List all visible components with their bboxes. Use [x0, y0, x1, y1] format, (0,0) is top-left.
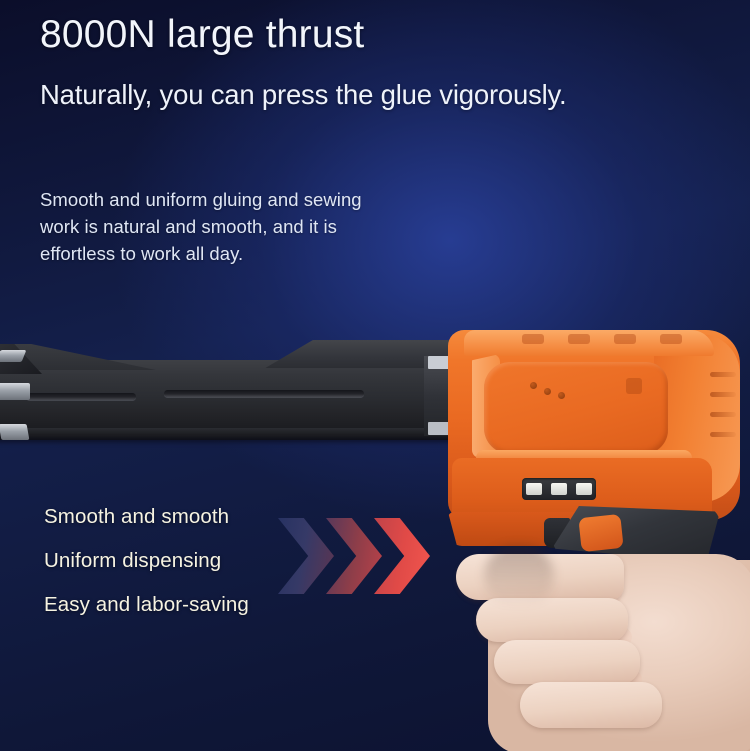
feature-item-2: Uniform dispensing	[44, 549, 344, 573]
metal-tip-middle	[0, 383, 30, 400]
feature-item-3: Easy and labor-saving	[44, 593, 344, 617]
chevron-right-icon-3	[374, 518, 430, 594]
top-notch	[522, 334, 544, 344]
feature-list: Smooth and smooth Uniform dispensing Eas…	[44, 505, 344, 617]
caulking-gun-barrel-rail	[0, 338, 476, 450]
top-notch	[614, 334, 636, 344]
caulking-gun-orange-housing	[448, 330, 740, 560]
panel-marking	[626, 378, 642, 394]
body-line-1: Smooth and uniform gluing and sewing	[40, 186, 440, 213]
hand-gripping-tool	[432, 546, 750, 751]
barrel-groove-front	[26, 393, 136, 400]
battery-level-indicator	[522, 478, 596, 500]
top-notch	[660, 334, 682, 344]
rib	[710, 392, 736, 397]
panel-screw	[544, 388, 551, 395]
panel-screw	[530, 382, 537, 389]
little-finger	[520, 682, 662, 728]
metal-tip-lower	[0, 424, 29, 440]
body-line-2: work is natural and smooth, and it is	[40, 213, 440, 240]
barrel-drop-shadow	[0, 438, 454, 445]
housing-side-panel	[484, 362, 668, 454]
ring-finger	[494, 640, 640, 684]
rear-cap-ribs	[710, 366, 736, 458]
panel-screw	[558, 392, 565, 399]
subheadline: Naturally, you can press the glue vigoro…	[40, 78, 740, 112]
feature-item-1: Smooth and smooth	[44, 505, 344, 529]
barrel-groove-rear	[164, 390, 364, 397]
body-line-3: effortless to work all day.	[40, 240, 440, 267]
middle-finger	[476, 598, 628, 642]
top-notch	[568, 334, 590, 344]
headline: 8000N large thrust	[40, 12, 700, 58]
battery-led-1	[526, 483, 542, 495]
rib	[710, 372, 736, 377]
hand-shadow	[484, 546, 554, 606]
rib	[710, 432, 736, 437]
rib	[710, 412, 736, 417]
body-paragraph: Smooth and uniform gluing and sewing wor…	[40, 186, 440, 267]
battery-led-3	[576, 483, 592, 495]
battery-led-2	[551, 483, 567, 495]
housing-top-lip	[464, 330, 714, 356]
product-marketing-poster: 8000N large thrust Naturally, you can pr…	[0, 0, 750, 751]
